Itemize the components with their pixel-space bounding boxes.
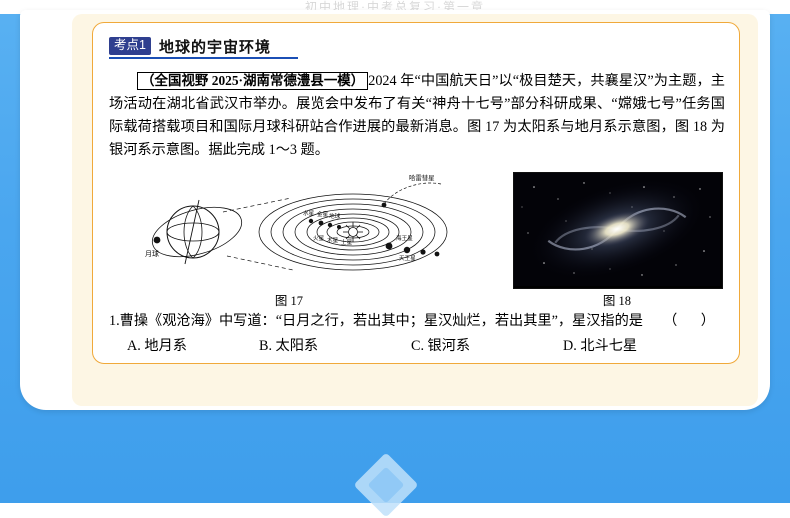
card-inner: 考点1 地球的宇宙环境 （全国视野 2025·湖南常德澧县一模）2024 年“中… (109, 35, 725, 355)
answer-brackets: （ ） (663, 310, 725, 332)
svg-text:月球: 月球 (145, 249, 159, 258)
svg-text:土星: 土星 (341, 238, 353, 246)
option-d[interactable]: D. 北斗七星 (563, 335, 703, 355)
question-stem-paragraph: （全国视野 2025·湖南常德澧县一模）2024 年“中国航天日”以“极目楚天，… (109, 69, 725, 162)
question-1-line: 1.曹操《观沧海》中写道：“日月之行，若出其中；星汉灿烂，若出其里”，星汉指的是… (109, 310, 725, 332)
option-c[interactable]: C. 银河系 (411, 335, 563, 355)
question-1-options: A. 地月系 B. 太阳系 C. 银河系 D. 北斗七星 (109, 335, 725, 355)
svg-text:火星: 火星 (313, 235, 325, 242)
figure-17-diagram: 月球 (141, 170, 471, 288)
figure-17-caption: 图 17 (259, 290, 319, 309)
option-a[interactable]: A. 地月系 (127, 335, 259, 355)
svg-text:地球: 地球 (329, 212, 341, 220)
option-b[interactable]: B. 太阳系 (259, 335, 411, 355)
question-1-text: 曹操《观沧海》中写道：“日月之行，若出其中；星汉灿烂，若出其里”，星汉指的是 (120, 313, 643, 329)
content-card: 考点1 地球的宇宙环境 （全国视野 2025·湖南常德澧县一模）2024 年“中… (92, 22, 740, 364)
page-background: 初中地理·中考总复习·第一章 考点1 地球的宇宙环境 （全国视野 2025·湖南… (0, 0, 790, 503)
question-1-number: 1. (109, 313, 120, 329)
figure-18-caption: 图 18 (587, 290, 647, 309)
svg-text:天王星: 天王星 (399, 255, 416, 262)
section-heading: 考点1 地球的宇宙环境 (109, 35, 725, 57)
svg-text:水星: 水星 (303, 209, 315, 217)
svg-text:哈雷彗星: 哈雷彗星 (409, 173, 435, 182)
svg-text:木星: 木星 (327, 236, 339, 244)
figure-18-galaxy-image (513, 172, 723, 289)
figures-row: 月球 (109, 170, 725, 306)
kaodian-badge: 考点1 (109, 37, 151, 55)
source-label: （全国视野 2025·湖南常德澧县一模） (137, 72, 368, 90)
page-title: 地球的宇宙环境 (159, 36, 271, 57)
heading-underline (109, 57, 298, 59)
svg-text:海王星: 海王星 (396, 234, 413, 242)
svg-text:金星: 金星 (317, 210, 329, 218)
paper-sheet: 考点1 地球的宇宙环境 （全国视野 2025·湖南常德澧县一模）2024 年“中… (20, 10, 770, 410)
